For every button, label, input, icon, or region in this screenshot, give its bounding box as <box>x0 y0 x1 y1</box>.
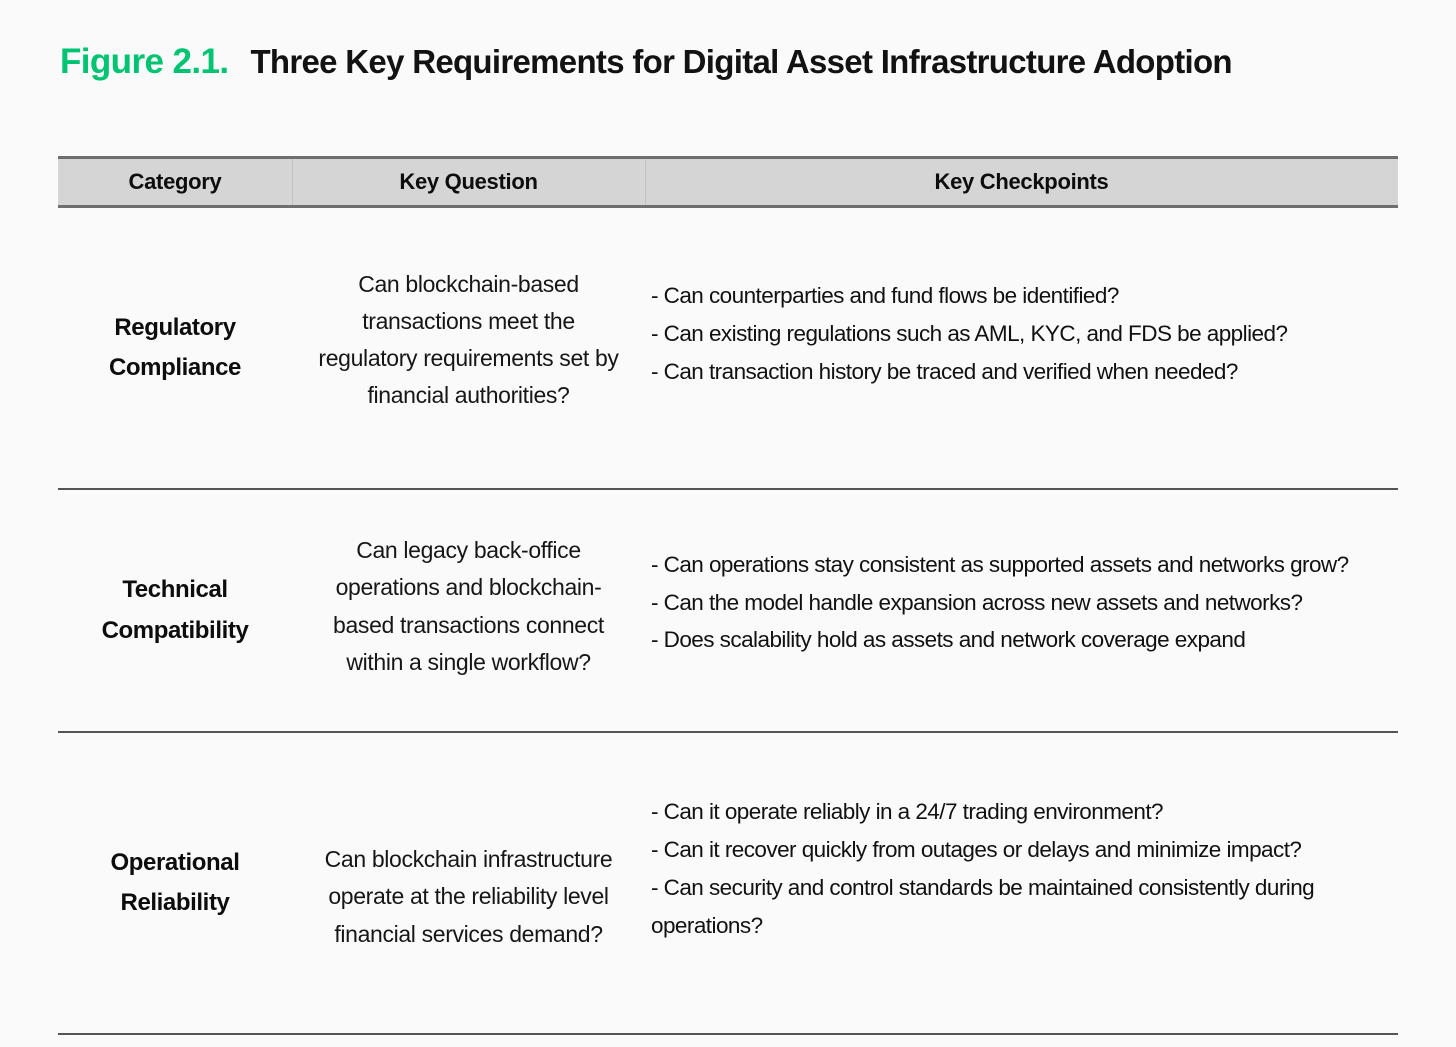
requirements-table: Category Key Question Key Checkpoints Re… <box>58 156 1398 1035</box>
checkpoint-item: - Can transaction history be traced and … <box>651 353 1238 391</box>
table-body: Regulatory Compliance Can blockchain-bas… <box>58 208 1398 1035</box>
column-header-category: Category <box>58 159 292 205</box>
category-line: Operational <box>111 843 240 883</box>
cell-key-question: Can legacy back-office operations and bl… <box>292 486 645 727</box>
cell-key-question: Can blockchain infrastructure operate at… <box>292 747 645 1047</box>
checkpoint-item: - Can counterparties and fund flows be i… <box>651 277 1119 315</box>
question-line: Can blockchain-based <box>358 266 579 303</box>
cell-category: Operational Reliability <box>58 733 292 1033</box>
cell-key-checkpoints: - Can counterparties and fund flows be i… <box>645 194 1398 474</box>
question-line: Can legacy back-office <box>356 532 581 569</box>
checkpoint-item: - Can it recover quickly from outages or… <box>651 831 1301 869</box>
figure-title: Three Key Requirements for Digital Asset… <box>250 43 1231 81</box>
category-line: Compatibility <box>102 611 249 651</box>
category-line: Regulatory <box>114 308 235 348</box>
table-row: Technical Compatibility Can legacy back-… <box>58 490 1398 733</box>
cell-key-checkpoints: - Can it operate reliably in a 24/7 trad… <box>645 719 1398 1019</box>
category-line: Reliability <box>121 883 230 923</box>
question-line: operate at the reliability level <box>328 878 608 915</box>
question-line: financial authorities? <box>368 377 570 414</box>
checkpoint-item: - Can the model handle expansion across … <box>651 584 1302 622</box>
cell-category: Technical Compatibility <box>58 490 292 731</box>
cell-category: Regulatory Compliance <box>58 208 292 488</box>
category-line: Compliance <box>109 348 241 388</box>
cell-key-question: Can blockchain-based transactions meet t… <box>292 200 645 480</box>
checkpoint-item: - Can security and control standards be … <box>651 869 1394 945</box>
question-line: operations and blockchain- <box>336 569 602 606</box>
question-line: within a single workflow? <box>346 644 590 681</box>
question-line: financial services demand? <box>334 916 602 953</box>
question-line: based transactions connect <box>333 607 604 644</box>
checkpoint-item: - Does scalability hold as assets and ne… <box>651 621 1245 659</box>
table-row: Regulatory Compliance Can blockchain-bas… <box>58 208 1398 490</box>
question-line: regulatory requirements set by <box>318 340 618 377</box>
figure-heading: Figure 2.1. Three Key Requirements for D… <box>60 42 1232 82</box>
category-line: Technical <box>122 570 227 610</box>
figure-page: Figure 2.1. Three Key Requirements for D… <box>0 0 1456 1027</box>
question-line: transactions meet the <box>362 303 575 340</box>
question-line: Can blockchain infrastructure <box>325 841 613 878</box>
figure-number: Figure 2.1. <box>60 42 228 82</box>
table-row: Operational Reliability Can blockchain i… <box>58 733 1398 1035</box>
column-header-key-question: Key Question <box>292 159 645 205</box>
checkpoint-item: - Can existing regulations such as AML, … <box>651 315 1287 353</box>
checkpoint-item: - Can operations stay consistent as supp… <box>651 546 1349 584</box>
cell-key-checkpoints: - Can operations stay consistent as supp… <box>645 482 1398 723</box>
checkpoint-item: - Can it operate reliably in a 24/7 trad… <box>651 793 1163 831</box>
